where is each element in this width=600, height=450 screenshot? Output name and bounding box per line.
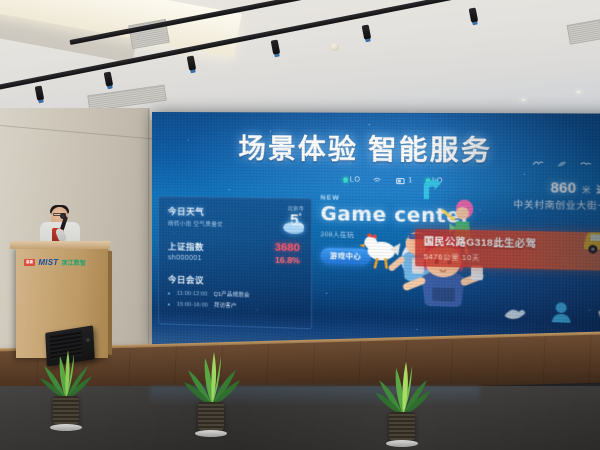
turn-right-arrow-icon	[419, 177, 440, 200]
status-item-signal: LO	[343, 176, 360, 183]
stock-change-percent: 16.8%	[275, 255, 300, 266]
podium-logo-badge: 高新	[24, 259, 35, 266]
page-title: 场景体验 智能服务	[238, 126, 492, 168]
bird-icon[interactable]	[502, 304, 526, 321]
wall-seam	[148, 110, 149, 350]
plant-saucer	[50, 424, 82, 431]
track-spotlight	[35, 85, 45, 101]
track-spotlight	[271, 39, 281, 55]
status-label: LO	[350, 176, 361, 183]
wifi-icon	[373, 177, 381, 183]
stock-value: 3680	[275, 242, 300, 255]
meeting-name: Q1产品规划会	[214, 290, 250, 299]
plant-leaves	[181, 336, 241, 402]
meeting-row: 15:00-16:00 拜访客户	[168, 299, 302, 311]
plant-pot	[198, 402, 224, 432]
leaf-icon	[556, 160, 567, 169]
navigation-action: 进入	[596, 183, 600, 197]
meeting-time: 11:00-12:00	[177, 291, 208, 298]
conference-hall-photo: 场景体验 智能服务 LO 1 LO	[0, 0, 600, 450]
decorative-icon-row	[532, 160, 600, 169]
navigation-distance: 860	[550, 179, 576, 196]
navigation-widget[interactable]: 860 米 进入 中关村南创业大街十西	[411, 177, 600, 212]
plant-saucer	[195, 430, 227, 437]
recessed-downlight	[575, 90, 582, 94]
bullet-icon	[168, 292, 170, 294]
track-spotlight	[469, 7, 479, 23]
cloud-icon	[281, 217, 308, 234]
bird-icon	[580, 160, 592, 169]
promo-subtitle: 5476公里 10天	[424, 252, 600, 267]
meetings-heading: 今日会议	[168, 273, 302, 289]
plant-leaves	[372, 346, 432, 412]
noodle-bowl-icon[interactable]	[596, 304, 600, 324]
track-spotlight	[187, 55, 197, 71]
suv-car-icon	[581, 226, 600, 255]
plant-pot	[389, 412, 415, 442]
meeting-row: 11:00-12:00 Q1产品规划会	[168, 288, 302, 300]
track-spotlight	[362, 24, 372, 40]
person-icon[interactable]	[551, 301, 572, 323]
recessed-downlight	[520, 98, 527, 102]
promo-banner[interactable]: 国民公路G318此生必驾 5476公里 10天	[415, 229, 600, 271]
weather-widget[interactable]: 今日天气 晴转小雨 空气质量优 北京市 5°	[168, 205, 302, 230]
stock-values: 3680 16.8%	[275, 242, 300, 266]
navigation-unit: 米	[582, 184, 591, 196]
info-card[interactable]: 今日天气 晴转小雨 空气质量优 北京市 5° 上证指数 sh000001 368…	[158, 196, 312, 329]
plant-leaves	[36, 334, 96, 400]
promo-title: 国民公路G318此生必驾	[424, 233, 600, 252]
ceiling-vent-right	[567, 19, 600, 45]
led-video-wall[interactable]: 场景体验 智能服务 LO 1 LO	[152, 112, 600, 361]
bird-icon	[532, 160, 544, 169]
podium-logo-main: MIST	[38, 258, 58, 267]
track-spotlight	[104, 71, 114, 87]
meetings-widget[interactable]: 今日会议 11:00-12:00 Q1产品规划会 15:00-16:00 拜访客…	[168, 273, 302, 311]
status-item-wifi	[373, 177, 384, 183]
podium-logo: 高新 MIST 滨江数智	[24, 256, 100, 269]
plant-pot	[53, 396, 79, 426]
smoke-detector-icon	[330, 43, 339, 51]
weather-temperature-block: 北京市 5°	[288, 205, 304, 228]
meeting-time: 15:00-16:00	[177, 302, 208, 309]
microphone-head	[60, 213, 66, 219]
podium-top	[10, 241, 111, 249]
stock-widget[interactable]: 上证指数 sh000001 3680 16.8%	[168, 240, 302, 264]
plant-saucer	[386, 440, 418, 447]
meeting-name: 拜访客户	[214, 301, 237, 310]
signal-icon	[343, 177, 347, 182]
battery-icon	[396, 177, 406, 183]
podium-logo-sub: 滨江数智	[61, 258, 86, 267]
bullet-icon	[168, 303, 170, 305]
